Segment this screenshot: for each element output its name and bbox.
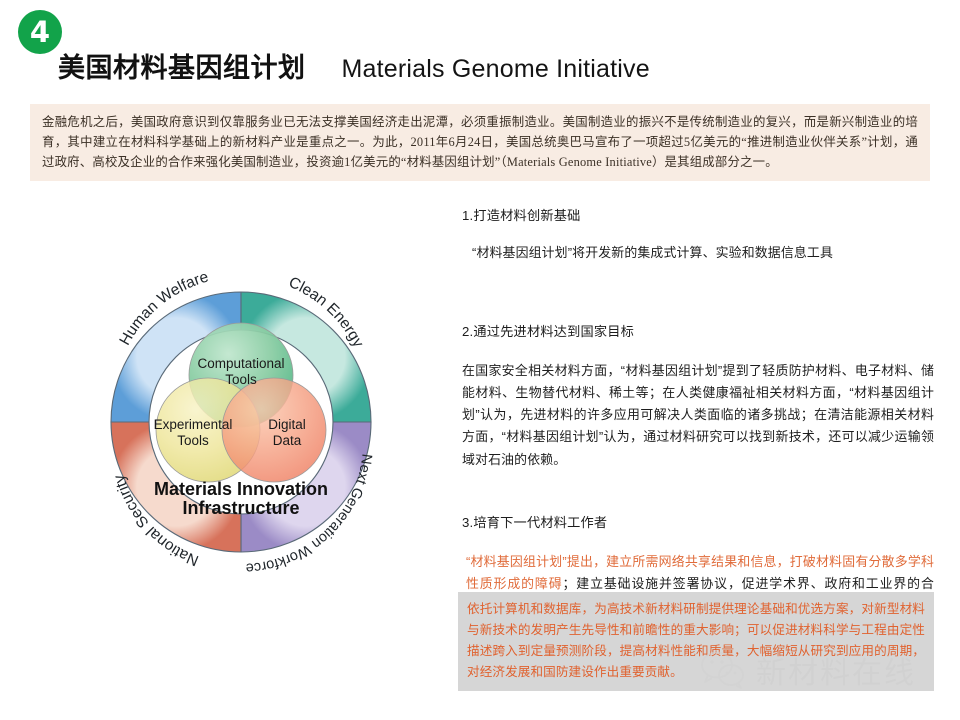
section-1-heading: 1.打造材料创新基础 [462, 206, 934, 226]
section-2: 2.通过先进材料达到国家目标 在国家安全相关材料方面，“材料基因组计划”提到了轻… [462, 322, 934, 471]
content-column: 1.打造材料创新基础 “材料基因组计划”将开发新的集成式计算、实验和数据信息工具… [462, 206, 934, 617]
section-1-body: “材料基因组计划”将开发新的集成式计算、实验和数据信息工具 [462, 242, 934, 264]
section-2-heading: 2.通过先进材料达到国家目标 [462, 322, 934, 342]
diagram-center-label-line2: Infrastructure [182, 498, 299, 518]
venn-label-experimental-tools-line2: Tools [177, 433, 209, 448]
section-3-heading: 3.培育下一代材料工作者 [462, 513, 934, 533]
page-header: 4 美国材料基因组计划 Materials Genome Initiative [0, 0, 960, 96]
venn-label-digital-data-line1: Digital [268, 417, 306, 432]
summary-highlight-box: 依托计算机和数据库，为高技术新材料研制提供理论基础和优选方案，对新型材料与新技术… [458, 592, 934, 691]
page-title-chinese: 美国材料基因组计划 [58, 46, 306, 85]
page-title-english: Materials Genome Initiative [342, 55, 650, 84]
section-2-body: 在国家安全相关材料方面，“材料基因组计划”提到了轻质防护材料、电子材料、储能材料… [462, 360, 934, 471]
venn-label-computational-tools-line1: Computational [197, 356, 284, 371]
section-1: 1.打造材料创新基础 “材料基因组计划”将开发新的集成式计算、实验和数据信息工具 [462, 206, 934, 264]
diagram-center-label-line1: Materials Innovation [154, 479, 328, 499]
intro-paragraph-box: 金融危机之后，美国政府意识到仅靠服务业已无法支撑美国经济走出泥潭，必须重振制造业… [30, 104, 930, 181]
section-number-badge: 4 [18, 10, 62, 54]
materials-innovation-infrastructure-diagram: Human Welfare Clean Energy Next Generati… [56, 252, 426, 612]
page-title: 美国材料基因组计划 Materials Genome Initiative [58, 46, 650, 85]
venn-label-digital-data-line2: Data [273, 433, 302, 448]
venn-label-computational-tools-line2: Tools [225, 372, 257, 387]
venn-label-experimental-tools-line1: Experimental [154, 417, 233, 432]
